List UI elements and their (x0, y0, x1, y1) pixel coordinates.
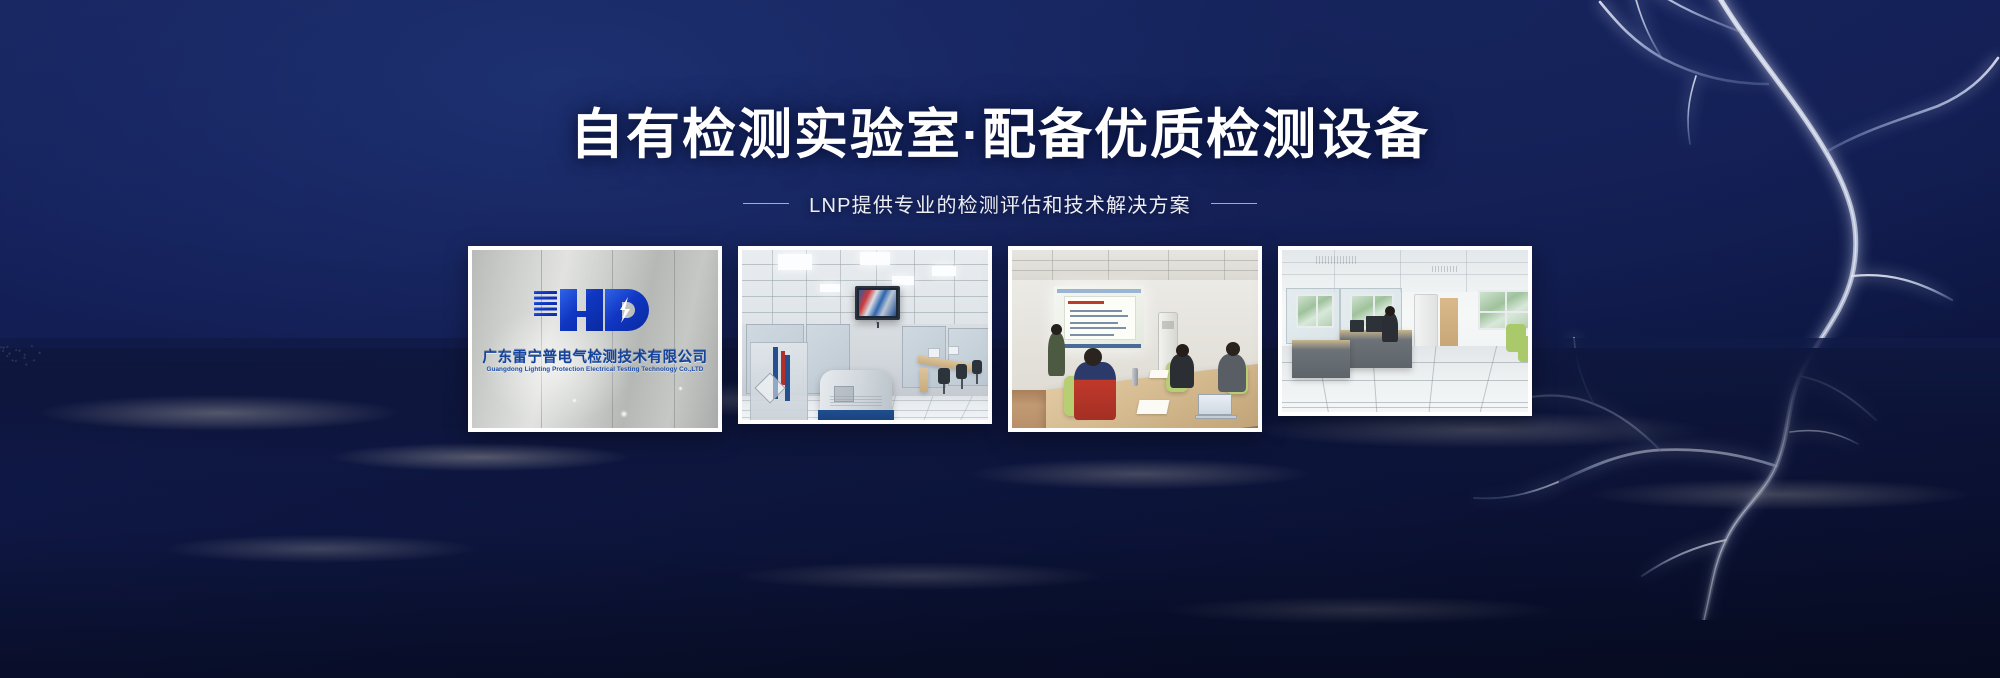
meeting-ceiling (1012, 250, 1258, 280)
thermos-flask (1132, 368, 1138, 386)
person-presenter (1048, 332, 1065, 376)
person-at-desk (1382, 312, 1398, 342)
lab-chair-2 (956, 364, 967, 379)
lab-scene (742, 250, 988, 420)
office-desk-main (1340, 330, 1412, 368)
office-bookshelf (1440, 298, 1458, 350)
person-at-desk-head (1385, 306, 1395, 316)
projector-screen (1054, 286, 1144, 350)
lab-monitor-small (928, 348, 940, 358)
office-ceiling (1282, 250, 1528, 292)
photo-testing-lab-image (742, 250, 988, 420)
lab-bench-leg (920, 368, 928, 392)
photo-training-meeting-image (1012, 250, 1258, 428)
office-chair-right-2 (1518, 336, 1528, 362)
lab-test-rack (750, 342, 808, 420)
banner-subtitle: LNP提供专业的检测评估和技术解决方案 (809, 189, 1191, 218)
photo-office-area-image (1282, 250, 1528, 412)
office-desk-left (1292, 340, 1350, 378)
gallery-photo-training-meeting[interactable] (1008, 246, 1262, 432)
rule-right-decoration (1211, 203, 1257, 204)
laptop-on-table (1198, 394, 1234, 418)
meeting-scene (1012, 250, 1258, 428)
photo-gallery: 广东雷宁普电气检测技术有限公司 Guangdong Lighting Prote… (0, 246, 2000, 432)
person-presenter-head (1051, 324, 1062, 335)
rule-left-decoration (743, 203, 789, 204)
person-attendee-right (1218, 354, 1246, 392)
documents-on-table (1137, 400, 1170, 414)
office-scene (1282, 250, 1528, 412)
person-attendee-mid (1170, 354, 1194, 388)
gallery-photo-company-sign[interactable]: 广东雷宁普电气检测技术有限公司 Guangdong Lighting Prote… (468, 246, 722, 432)
lnp-logo-mark (530, 280, 660, 340)
lab-chair-1 (938, 368, 950, 384)
person-attendee-foreground (1074, 362, 1116, 420)
office-window-left (1296, 294, 1334, 328)
banner-headline: 自有检测实验室·配备优质检测设备 (0, 104, 2000, 167)
banner-subtitle-row: LNP提供专业的检测评估和技术解决方案 (0, 189, 2000, 218)
photo-company-sign-image: 广东雷宁普电气检测技术有限公司 Guangdong Lighting Prote… (472, 250, 718, 428)
gallery-photo-office-area[interactable] (1278, 246, 1532, 416)
person-attendee-foreground-head (1084, 348, 1102, 366)
sign-wall-backdrop: 广东雷宁普电气检测技术有限公司 Guangdong Lighting Prote… (472, 250, 718, 428)
gallery-photo-testing-lab[interactable] (738, 246, 992, 424)
sign-company-name-cn: 广东雷宁普电气检测技术有限公司 (472, 346, 718, 367)
lab-chair-3 (972, 360, 982, 374)
banner-root: 自有检测实验室·配备优质检测设备 LNP提供专业的检测评估和技术解决方案 (0, 0, 2000, 678)
banner-text-block: 自有检测实验室·配备优质检测设备 LNP提供专业的检测评估和技术解决方案 (0, 104, 2000, 218)
person-attendee-mid-head (1176, 344, 1189, 357)
papers-on-table (1149, 370, 1168, 378)
sign-company-name-en: Guangdong Lighting Protection Electrical… (472, 366, 718, 373)
lab-wall-monitor (855, 286, 900, 320)
lab-monitor-small-2 (948, 346, 959, 355)
lab-instrument-cabinet (820, 370, 892, 420)
office-tall-cabinet (1414, 294, 1438, 352)
person-attendee-right-head (1226, 342, 1240, 356)
office-monitor-2 (1350, 320, 1364, 332)
